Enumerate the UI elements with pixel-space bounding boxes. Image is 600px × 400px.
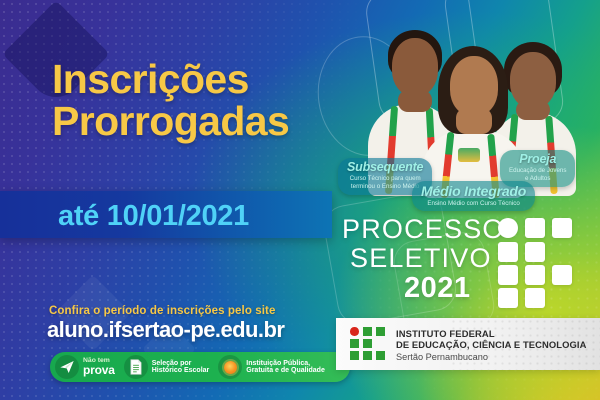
feature-line2: prova (83, 364, 115, 377)
feature-item-public-institution: Instituição Pública, Gratuita e de Quali… (218, 352, 325, 382)
deadline-prefix: até (58, 200, 99, 232)
if-grid-logo-large (498, 218, 576, 308)
paper-plane-icon (55, 355, 79, 379)
course-title: Subsequente (347, 161, 423, 174)
processo-line1: PROCESSO (342, 214, 505, 245)
feature-line1: Seleção por (152, 360, 210, 367)
processo-year: 2021 (404, 272, 471, 305)
course-title: Médio Integrado (421, 184, 526, 199)
institution-line3: Sertão Pernambucano (396, 352, 586, 364)
feature-line1: Instituição Pública, (246, 360, 325, 367)
feature-line2: Gratuita e de Qualidade (246, 367, 325, 374)
course-subtitle: Curso Técnico para quem terminou o Ensin… (347, 175, 423, 191)
document-checklist-icon (124, 355, 148, 379)
institution-line1: INSTITUTO FEDERAL (396, 328, 586, 339)
processo-line2: SELETIVO (350, 243, 492, 274)
deadline-text: até 10/01/2021 (58, 200, 249, 233)
features-bar: Não tem prova Seleção por Histórico Esco… (50, 352, 350, 382)
feature-item-no-exam: Não tem prova (55, 352, 115, 382)
page-title: Inscrições Prorrogadas (52, 58, 289, 142)
course-label-medio-integrado: Médio Integrado Ensino Médio com Curso T… (412, 181, 535, 211)
course-subtitle: Ensino Médio com Curso Técnico (421, 200, 526, 208)
institution-logo-bar: INSTITUTO FEDERAL DE EDUCAÇÃO, CIÊNCIA E… (336, 318, 600, 370)
site-url-text[interactable]: aluno.ifsertao-pe.edu.br (47, 317, 284, 343)
if-grid-logo-small (350, 327, 386, 361)
site-prefix-text: Confira o período de inscrições pelo sit… (49, 305, 275, 317)
feature-item-school-record: Seleção por Histórico Escolar (124, 352, 210, 382)
feature-text: Instituição Pública, Gratuita e de Quali… (246, 360, 325, 375)
deadline-value: 10/01/2021 (107, 200, 249, 232)
sun-icon (218, 355, 242, 379)
institution-name: INSTITUTO FEDERAL DE EDUCAÇÃO, CIÊNCIA E… (396, 328, 586, 364)
feature-line2: Histórico Escolar (152, 367, 210, 374)
course-title: Proeja (509, 153, 566, 166)
feature-text: Seleção por Histórico Escolar (152, 360, 210, 375)
institution-line2: DE EDUCAÇÃO, CIÊNCIA E TECNOLOGIA (396, 339, 586, 350)
feature-text: Não tem prova (83, 357, 115, 377)
promotional-banner: Inscrições Prorrogadas até 10/01/2021 Su… (0, 0, 600, 400)
